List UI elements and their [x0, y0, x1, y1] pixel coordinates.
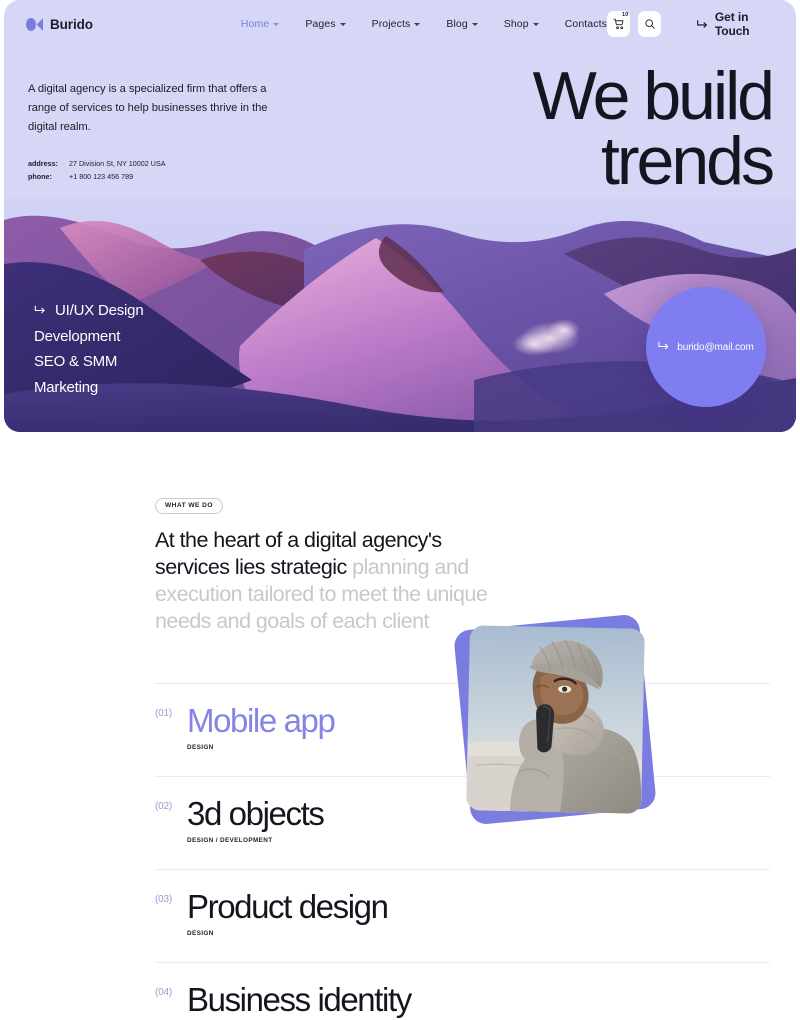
- hero-headline-line-2: trends: [533, 129, 772, 194]
- brand-name: Burido: [50, 17, 93, 32]
- contact-row-phone: phone: +1 800 123 456 789: [28, 170, 278, 183]
- hero-service-label: Development: [34, 324, 120, 350]
- hero-service-item-uiux[interactable]: UI/UX Design: [34, 298, 143, 324]
- service-row-body: Business identity: [187, 981, 411, 1020]
- service-row-number: (02): [155, 795, 187, 812]
- photo-card: [462, 622, 648, 817]
- what-we-do-section: WHAT WE DO At the heart of a digital age…: [0, 432, 800, 1020]
- service-row-tag: DESIGN: [187, 744, 334, 751]
- nav-item-label: Shop: [504, 18, 529, 30]
- contact-value: 27 Division St, NY 10002 USA: [69, 157, 166, 170]
- chevron-down-icon: [533, 23, 539, 26]
- hero-service-label: UI/UX Design: [55, 298, 143, 324]
- service-row-title: Business identity: [187, 981, 411, 1019]
- arrow-turn-right-icon: [34, 298, 47, 324]
- service-row-body: Mobile app DESIGN: [187, 702, 334, 751]
- get-in-touch-button[interactable]: Get in Touch: [697, 10, 778, 38]
- chevron-down-icon: [414, 23, 420, 26]
- service-row-title: Product design: [187, 888, 388, 926]
- service-row-title: Mobile app: [187, 702, 334, 740]
- service-row-tag: DESIGN / DEVELOPMENT: [187, 837, 323, 844]
- service-row-body: Product design DESIGN: [187, 888, 388, 937]
- cart-button[interactable]: 10: [607, 11, 630, 37]
- page-root: Burido Home Pages Projects Blog: [0, 0, 800, 1020]
- nav-item-blog[interactable]: Blog: [446, 18, 477, 30]
- hero-services-list: UI/UX Design Development SEO & SMM Marke…: [34, 298, 143, 400]
- shopping-cart-icon: [613, 18, 625, 30]
- search-button[interactable]: [638, 11, 661, 37]
- hero-service-item-marketing[interactable]: Marketing: [34, 375, 143, 401]
- what-we-do-heading: At the heart of a digital agency's servi…: [155, 527, 510, 635]
- nav-item-home[interactable]: Home: [241, 18, 279, 30]
- top-navigation-bar: Burido Home Pages Projects Blog: [4, 0, 796, 48]
- nav-item-contacts[interactable]: Contacts: [565, 18, 607, 30]
- service-row-number: (04): [155, 981, 187, 998]
- service-row-title: 3d objects: [187, 795, 323, 833]
- service-row-body: 3d objects DESIGN / DEVELOPMENT: [187, 795, 323, 844]
- arrow-turn-right-icon: [697, 19, 709, 30]
- hero-section: Burido Home Pages Projects Blog: [4, 0, 796, 432]
- hero-headline: We build trends: [533, 64, 772, 195]
- service-row-number: (01): [155, 702, 187, 719]
- contact-value: +1 800 123 456 789: [69, 170, 133, 183]
- hero-service-label: Marketing: [34, 375, 98, 401]
- hero-service-item-seo-smm[interactable]: SEO & SMM: [34, 349, 143, 375]
- man-in-winter-coat-photo: [466, 625, 645, 814]
- nav-item-projects[interactable]: Projects: [372, 18, 421, 30]
- contact-row-address: address: 27 Division St, NY 10002 USA: [28, 157, 278, 170]
- nav-actions: 10 Get in Touch: [607, 10, 778, 38]
- service-row-product-design[interactable]: (03) Product design DESIGN: [155, 869, 770, 962]
- nav-item-label: Home: [241, 18, 269, 30]
- nav-item-shop[interactable]: Shop: [504, 18, 539, 30]
- brand-logo[interactable]: Burido: [26, 17, 93, 32]
- main-menu: Home Pages Projects Blog Shop: [241, 18, 607, 30]
- service-row-business-identity[interactable]: (04) Business identity: [155, 962, 770, 1020]
- chevron-down-icon: [273, 23, 279, 26]
- nav-item-pages[interactable]: Pages: [305, 18, 345, 30]
- hero-contact-info: address: 27 Division St, NY 10002 USA ph…: [28, 157, 278, 183]
- chevron-down-icon: [340, 23, 346, 26]
- what-we-do-badge: WHAT WE DO: [155, 498, 223, 514]
- hero-service-item-development[interactable]: Development: [34, 324, 143, 350]
- hero-intro-text: A digital agency is a specialized firm t…: [28, 80, 278, 137]
- service-row-number: (03): [155, 888, 187, 905]
- burido-logo-icon: [26, 18, 43, 31]
- arrow-turn-right-icon: [658, 341, 670, 354]
- email-bubble-label: burido@mail.com: [677, 342, 753, 353]
- hero-service-label: SEO & SMM: [34, 349, 117, 375]
- chevron-down-icon: [472, 23, 478, 26]
- hero-top-content: A digital agency is a specialized firm t…: [4, 48, 796, 198]
- nav-item-label: Contacts: [565, 18, 607, 30]
- nav-item-label: Blog: [446, 18, 467, 30]
- search-icon: [644, 18, 656, 30]
- get-in-touch-label: Get in Touch: [715, 10, 778, 38]
- email-bubble-button[interactable]: burido@mail.com: [646, 287, 766, 407]
- cart-badge: 10: [622, 13, 628, 19]
- nav-item-label: Pages: [305, 18, 335, 30]
- contact-key: phone:: [28, 170, 61, 183]
- contact-key: address:: [28, 157, 61, 170]
- service-row-tag: DESIGN: [187, 930, 388, 937]
- hero-headline-line-1: We build: [533, 64, 772, 129]
- hero-intro-block: A digital agency is a specialized firm t…: [28, 80, 278, 183]
- nav-item-label: Projects: [372, 18, 411, 30]
